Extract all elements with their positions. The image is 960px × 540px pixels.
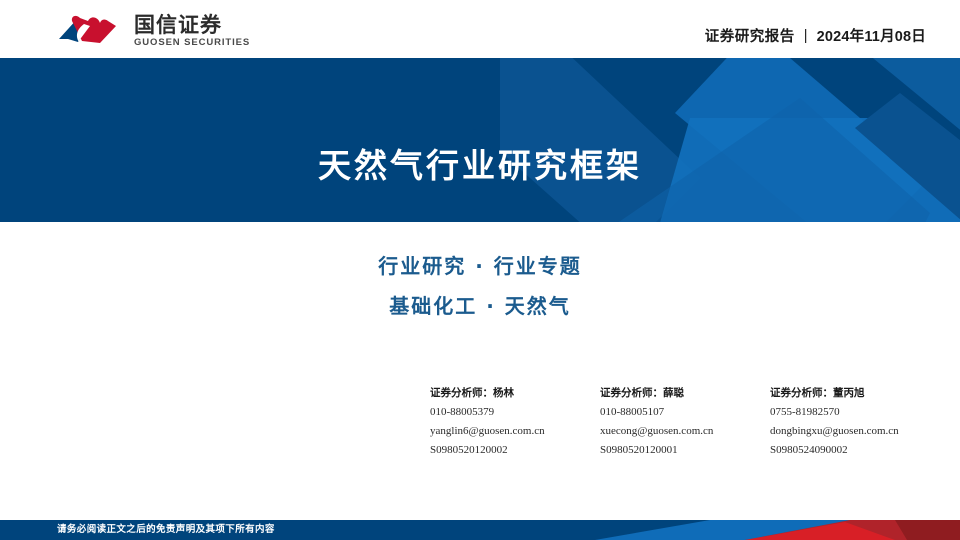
analyst-card: 证券分析师：薛聪 010-88005107 xuecong@guosen.com… bbox=[600, 384, 770, 460]
brand-logo-text: 国信证券 GUOSEN SECURITIES bbox=[134, 13, 250, 48]
analyst-email[interactable]: xuecong@guosen.com.cn bbox=[600, 422, 770, 441]
analyst-email[interactable]: dongbingxu@guosen.com.cn bbox=[770, 422, 940, 441]
brand-logo: 国信证券 GUOSEN SECURITIES bbox=[56, 12, 250, 48]
banner-geometric-decoration bbox=[500, 58, 960, 222]
report-type-label: 证券研究报告 bbox=[705, 25, 795, 46]
subtitle-line-1: 行业研究 · 行业专题 bbox=[0, 246, 960, 286]
analyst-license: S0980520120002 bbox=[430, 441, 600, 460]
analyst-name: 证券分析师：薛聪 bbox=[600, 384, 770, 403]
page-header: 国信证券 GUOSEN SECURITIES 证券研究报告 | 2024年11月… bbox=[0, 0, 960, 58]
guosen-logo-mark-icon bbox=[56, 12, 128, 48]
brand-name-cn: 国信证券 bbox=[134, 13, 250, 37]
analyst-phone: 010-88005379 bbox=[430, 403, 600, 422]
analyst-name: 证券分析师：杨林 bbox=[430, 384, 600, 403]
analyst-list: 证券分析师：杨林 010-88005379 yanglin6@guosen.co… bbox=[430, 384, 940, 460]
footer-disclaimer: 请务必阅读正文之后的免责声明及其项下所有内容 bbox=[57, 520, 275, 540]
page-title: 天然气行业研究框架 bbox=[0, 146, 960, 186]
footer-geometric-decoration bbox=[595, 520, 960, 540]
meta-divider: | bbox=[804, 28, 808, 44]
subtitle-line-2: 基础化工 · 天然气 bbox=[0, 286, 960, 326]
analyst-email[interactable]: yanglin6@guosen.com.cn bbox=[430, 422, 600, 441]
analyst-card: 证券分析师：杨林 010-88005379 yanglin6@guosen.co… bbox=[430, 384, 600, 460]
analyst-card: 证券分析师：董丙旭 0755-81982570 dongbingxu@guose… bbox=[770, 384, 940, 460]
analyst-name: 证券分析师：董丙旭 bbox=[770, 384, 940, 403]
analyst-license: S0980524090002 bbox=[770, 441, 940, 460]
analyst-phone: 0755-81982570 bbox=[770, 403, 940, 422]
analyst-phone: 010-88005107 bbox=[600, 403, 770, 422]
report-date: 2024年11月08日 bbox=[817, 25, 926, 46]
title-banner: 天然气行业研究框架 bbox=[0, 58, 960, 222]
analyst-license: S0980520120001 bbox=[600, 441, 770, 460]
report-meta: 证券研究报告 | 2024年11月08日 bbox=[705, 25, 926, 46]
brand-name-en: GUOSEN SECURITIES bbox=[134, 37, 250, 48]
page-footer: 请务必阅读正文之后的免责声明及其项下所有内容 bbox=[0, 520, 960, 540]
subtitle-block: 行业研究 · 行业专题 基础化工 · 天然气 bbox=[0, 246, 960, 326]
